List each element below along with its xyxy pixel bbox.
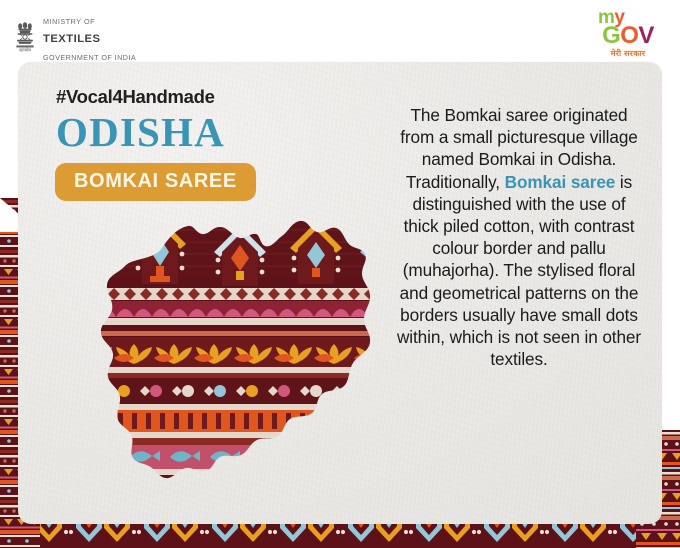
ministry-of-textiles-logo: सत्यमेव MINISTRY OF TEXTILES GOVERNMENT … bbox=[14, 11, 136, 65]
mygov-logo[interactable]: my GOV मेरी सरकार bbox=[592, 8, 664, 58]
ministry-line-3: GOVERNMENT OF INDIA bbox=[43, 53, 136, 62]
ministry-line-1: MINISTRY OF bbox=[43, 17, 95, 26]
content-card: #Vocal4Handmade ODISHA BOMKAI SAREE The … bbox=[18, 62, 662, 524]
svg-text:सत्यमेव: सत्यमेव bbox=[19, 47, 31, 52]
craft-name-badge: BOMKAI SAREE bbox=[55, 163, 256, 201]
ministry-line-2: TEXTILES bbox=[43, 33, 100, 45]
ministry-wordmark: MINISTRY OF TEXTILES GOVERNMENT OF INDIA bbox=[43, 11, 136, 65]
odisha-state-map bbox=[44, 200, 404, 518]
poster-header: सत्यमेव MINISTRY OF TEXTILES GOVERNMENT … bbox=[0, 0, 680, 58]
mygov-gov-wordmark: GOV bbox=[592, 24, 664, 48]
description-highlight: Bomkai saree bbox=[505, 172, 616, 192]
ashoka-lion-capital-emblem-icon: सत्यमेव bbox=[14, 22, 36, 54]
craft-description: The Bomkai saree originated from a small… bbox=[393, 104, 645, 370]
mygov-hindi-tagline: मेरी सरकार bbox=[592, 50, 664, 58]
odisha-map-silhouette bbox=[101, 221, 370, 478]
poster-canvas: सत्यमेव MINISTRY OF TEXTILES GOVERNMENT … bbox=[0, 0, 680, 548]
state-title: ODISHA bbox=[56, 108, 225, 156]
description-part-2: is distinguished with the use of thick p… bbox=[397, 172, 641, 370]
campaign-hashtag: #Vocal4Handmade bbox=[56, 86, 215, 108]
